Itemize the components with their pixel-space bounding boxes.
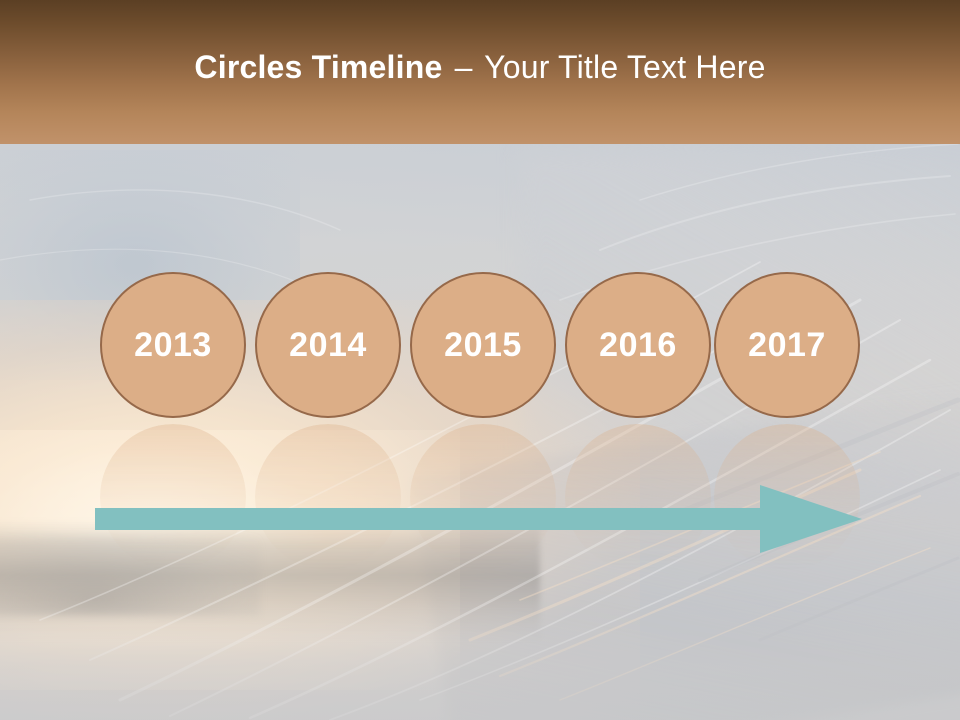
timeline-circle-label: 2016 — [599, 328, 677, 362]
timeline-circle-label: 2014 — [289, 328, 367, 362]
timeline-circle-2014[interactable]: 2014 — [255, 272, 401, 418]
page-title-dash: – — [452, 49, 476, 85]
page-title-rest: Your Title Text Here — [484, 49, 765, 85]
timeline-circle-label: 2013 — [134, 328, 212, 362]
slide-header-bar: Circles Timeline – Your Title Text Here — [0, 0, 960, 144]
timeline-circle-label: 2015 — [444, 328, 522, 362]
page-title-strong: Circles Timeline — [194, 49, 442, 85]
slide-canvas: 2013 2014 2015 2016 2017 Circles Timelin… — [0, 0, 960, 720]
timeline-circle-2016[interactable]: 2016 — [565, 272, 711, 418]
page-title: Circles Timeline – Your Title Text Here — [194, 49, 765, 86]
timeline-circle-2013[interactable]: 2013 — [100, 272, 246, 418]
timeline-circle-2015[interactable]: 2015 — [410, 272, 556, 418]
timeline-circle-2017[interactable]: 2017 — [714, 272, 860, 418]
timeline-circle-label: 2017 — [748, 328, 826, 362]
